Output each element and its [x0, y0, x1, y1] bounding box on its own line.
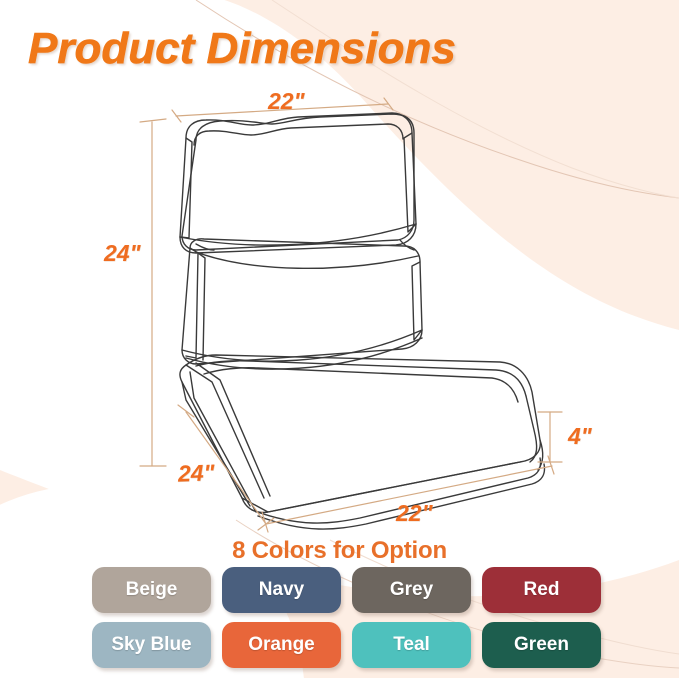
seat-cushion-seam-inner: [204, 368, 518, 402]
dim-cap-left-top: [140, 119, 166, 122]
back-cushion-lower-outline: [182, 239, 422, 364]
color-swatch-beige[interactable]: Beige: [92, 567, 211, 613]
dimension-label-seat-thickness: 4": [568, 423, 592, 450]
back-cushion-lower-bottom: [182, 330, 422, 361]
color-swatch-label: Teal: [393, 634, 430, 656]
back-cushion-tuck-left: [196, 244, 214, 250]
dim-cap-depth-bottom: [258, 518, 274, 530]
color-swatch-sky-blue[interactable]: Sky Blue: [92, 622, 211, 668]
seat-cushion-top-surface: [180, 355, 540, 512]
product-dimensions-infographic: Product Dimensions: [0, 0, 679, 678]
back-cushion-top-right-edge: [404, 133, 416, 232]
color-swatch-label: Beige: [126, 579, 178, 601]
seat-cushion-left-side2: [190, 372, 256, 512]
color-swatch-label: Grey: [390, 579, 433, 601]
dimension-label-seat-depth: 24": [178, 459, 215, 487]
color-swatch-label: Navy: [259, 579, 304, 601]
color-swatch-label: Green: [514, 634, 569, 656]
back-cushion-outer: [182, 114, 414, 250]
seat-cushion-seam-top: [196, 361, 526, 396]
colors-section-heading: 8 Colors for Option: [0, 537, 679, 565]
color-swatch-grey[interactable]: Grey: [352, 567, 471, 613]
dimension-label-top-width: 22": [268, 88, 305, 115]
back-cushion-lower-right-edge: [412, 262, 422, 340]
back-cushion-lower-left-edge: [186, 248, 198, 358]
dim-cap-depth-top: [178, 405, 194, 417]
color-swatch-navy[interactable]: Navy: [222, 567, 341, 613]
color-swatch-orange[interactable]: Orange: [222, 622, 341, 668]
dim-tick-top-right: [384, 98, 393, 110]
dim-cap-width-left: [262, 512, 268, 532]
color-swatch-label: Orange: [248, 634, 315, 656]
seat-cushion-right-side: [538, 440, 543, 470]
color-swatch-label: Sky Blue: [111, 634, 191, 656]
seat-cushion-left-side: [182, 382, 250, 506]
seat-cushion-right-corner: [526, 396, 537, 462]
color-swatch-grid: BeigeNavyGreyRedSky BlueOrangeTealGreen: [92, 567, 600, 668]
back-cushion-top-innerseam: [194, 124, 403, 145]
back-cushion-top-left-edge: [180, 138, 192, 238]
color-swatch-teal[interactable]: Teal: [352, 622, 471, 668]
back-cushion-lower-left-edge2: [198, 253, 205, 360]
back-cushion-top-bottom-curve: [180, 224, 416, 245]
color-swatch-green[interactable]: Green: [482, 622, 601, 668]
back-cushion-lower-topseam: [196, 252, 418, 268]
color-swatch-red[interactable]: Red: [482, 567, 601, 613]
back-cushion-lower-bottom2: [186, 338, 422, 369]
dimension-label-seat-width: 22": [396, 500, 433, 527]
dim-tick-top-left: [172, 110, 181, 122]
dim-cap-width-right: [548, 456, 554, 474]
color-swatch-label: Red: [524, 579, 560, 601]
seat-cushion-front-edge: [242, 462, 520, 512]
page-title: Product Dimensions: [28, 24, 456, 74]
back-cushion-tuck-right: [400, 240, 414, 250]
back-cushion-top-outline: [180, 113, 416, 253]
dimension-label-overall-height: 24": [104, 240, 141, 267]
